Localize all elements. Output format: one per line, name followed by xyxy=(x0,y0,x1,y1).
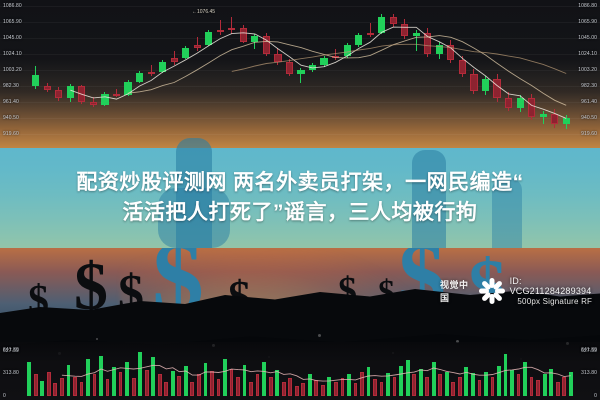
price-axis-tick-left: 1065.90 xyxy=(3,19,22,25)
price-axis-tick-right: 919.60 xyxy=(581,131,597,137)
volume-axis-tick-right: 313.80 xyxy=(581,370,597,376)
price-axis-tick-right: 982.30 xyxy=(581,83,597,89)
price-axis-tick-right: 940.50 xyxy=(581,115,597,121)
volume-axis-tick-left: 313.80 xyxy=(3,370,19,376)
price-axis-tick-left: 961.40 xyxy=(3,99,19,105)
moving-average-line xyxy=(70,27,566,118)
headline-band xyxy=(0,148,600,248)
volume-axis-tick-left: 0 xyxy=(3,393,6,399)
price-annotation: ←1076.45 xyxy=(192,9,215,15)
watermark: 视觉中国 ID: VCG211284289394 500px Signature… xyxy=(440,276,600,306)
price-axis-tick-right: 1086.80 xyxy=(578,3,597,9)
person-silhouette xyxy=(158,188,230,248)
watermark-id: ID: VCG211284289394 xyxy=(510,276,600,297)
volume-moving-average xyxy=(62,365,571,381)
price-axis-tick-left: 919.60 xyxy=(3,131,19,137)
price-axis-tick-left: 982.30 xyxy=(3,83,19,89)
person-silhouette xyxy=(412,150,446,248)
price-axis-tick-left: 1003.20 xyxy=(3,67,22,73)
bokeh-speck xyxy=(318,334,321,337)
price-axis-tick-left: 1024.10 xyxy=(3,51,22,57)
volume-axis-tick-right: 627.59 xyxy=(581,348,597,354)
price-axis-tick-right: 961.40 xyxy=(581,99,597,105)
price-axis-tick-left: 940.50 xyxy=(3,115,19,121)
watermark-license: 500px Signature RF xyxy=(510,297,600,306)
price-axis-tick-right: 1045.00 xyxy=(578,35,597,41)
price-axis-tick-right: 1003.20 xyxy=(578,67,597,73)
moving-average-lines xyxy=(0,0,600,148)
price-axis-tick-right: 1065.90 xyxy=(578,19,597,25)
price-axis-tick-left: 1045.00 xyxy=(3,35,22,41)
person-silhouette xyxy=(492,178,522,248)
moving-average-line xyxy=(232,44,566,73)
volume-average-line xyxy=(0,342,600,400)
moving-average-line xyxy=(128,36,566,106)
price-axis-tick-right: 1024.10 xyxy=(578,51,597,57)
volume-chart: 641.39627.59313.800 641.39627.59313.800 xyxy=(0,342,600,400)
volume-axis-tick-right: 0 xyxy=(594,393,597,399)
watermark-brand-cn: 视觉中国 xyxy=(440,278,476,304)
news-image-card: $ $ $ $ $ $ $ $ $ 1086.801065.901045.001… xyxy=(0,0,600,400)
volume-axis-tick-left: 627.59 xyxy=(3,348,19,354)
vcg-logo-icon xyxy=(479,278,505,304)
price-candlestick-chart: 1086.801065.901045.001024.101003.20982.3… xyxy=(0,0,600,148)
price-axis-tick-left: 1086.80 xyxy=(3,3,22,9)
bokeh-speck xyxy=(96,338,98,340)
